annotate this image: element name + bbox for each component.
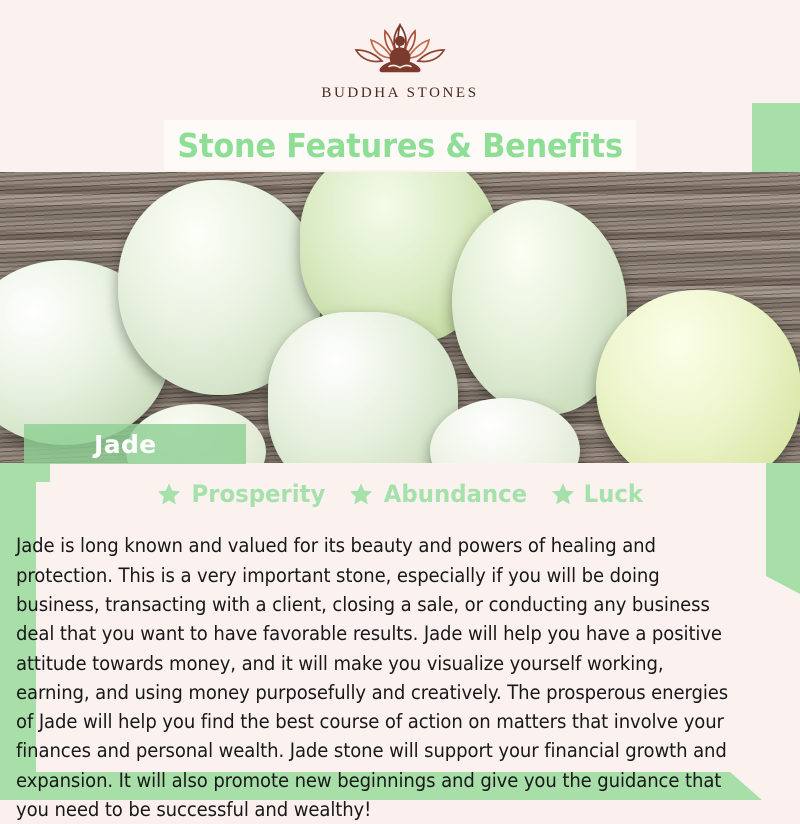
benefits-row: Prosperity Abundance Luck: [36, 478, 766, 510]
jade-stone: [268, 312, 458, 463]
stone-name-label: Jade: [24, 430, 157, 459]
benefit-item-luck: Luck: [551, 480, 645, 508]
benefit-item-prosperity: Prosperity: [157, 480, 329, 508]
star-icon: [551, 482, 575, 506]
decorative-green-strip-right: [766, 446, 800, 594]
stone-photo: [0, 172, 800, 463]
title-banner: Stone Features & Benefits: [164, 120, 636, 170]
benefit-label: Prosperity: [192, 480, 326, 508]
benefit-label: Abundance: [384, 480, 527, 508]
page-title: Stone Features & Benefits: [177, 126, 623, 165]
benefit-item-abundance: Abundance: [349, 480, 531, 508]
star-icon: [157, 482, 181, 506]
jade-stone: [596, 290, 800, 463]
brand-name: BUDDHA STONES: [321, 85, 478, 102]
benefit-label: Luck: [584, 480, 643, 508]
brand-header: BUDDHA STONES: [0, 0, 800, 120]
lotus-meditation-icon: [340, 19, 460, 81]
infographic-card: BUDDHA STONES Stone Features & Benefits …: [0, 0, 800, 800]
stone-name-band: Jade: [24, 424, 246, 464]
star-icon: [349, 482, 373, 506]
stone-description: Jade is long known and valued for its be…: [16, 531, 730, 824]
